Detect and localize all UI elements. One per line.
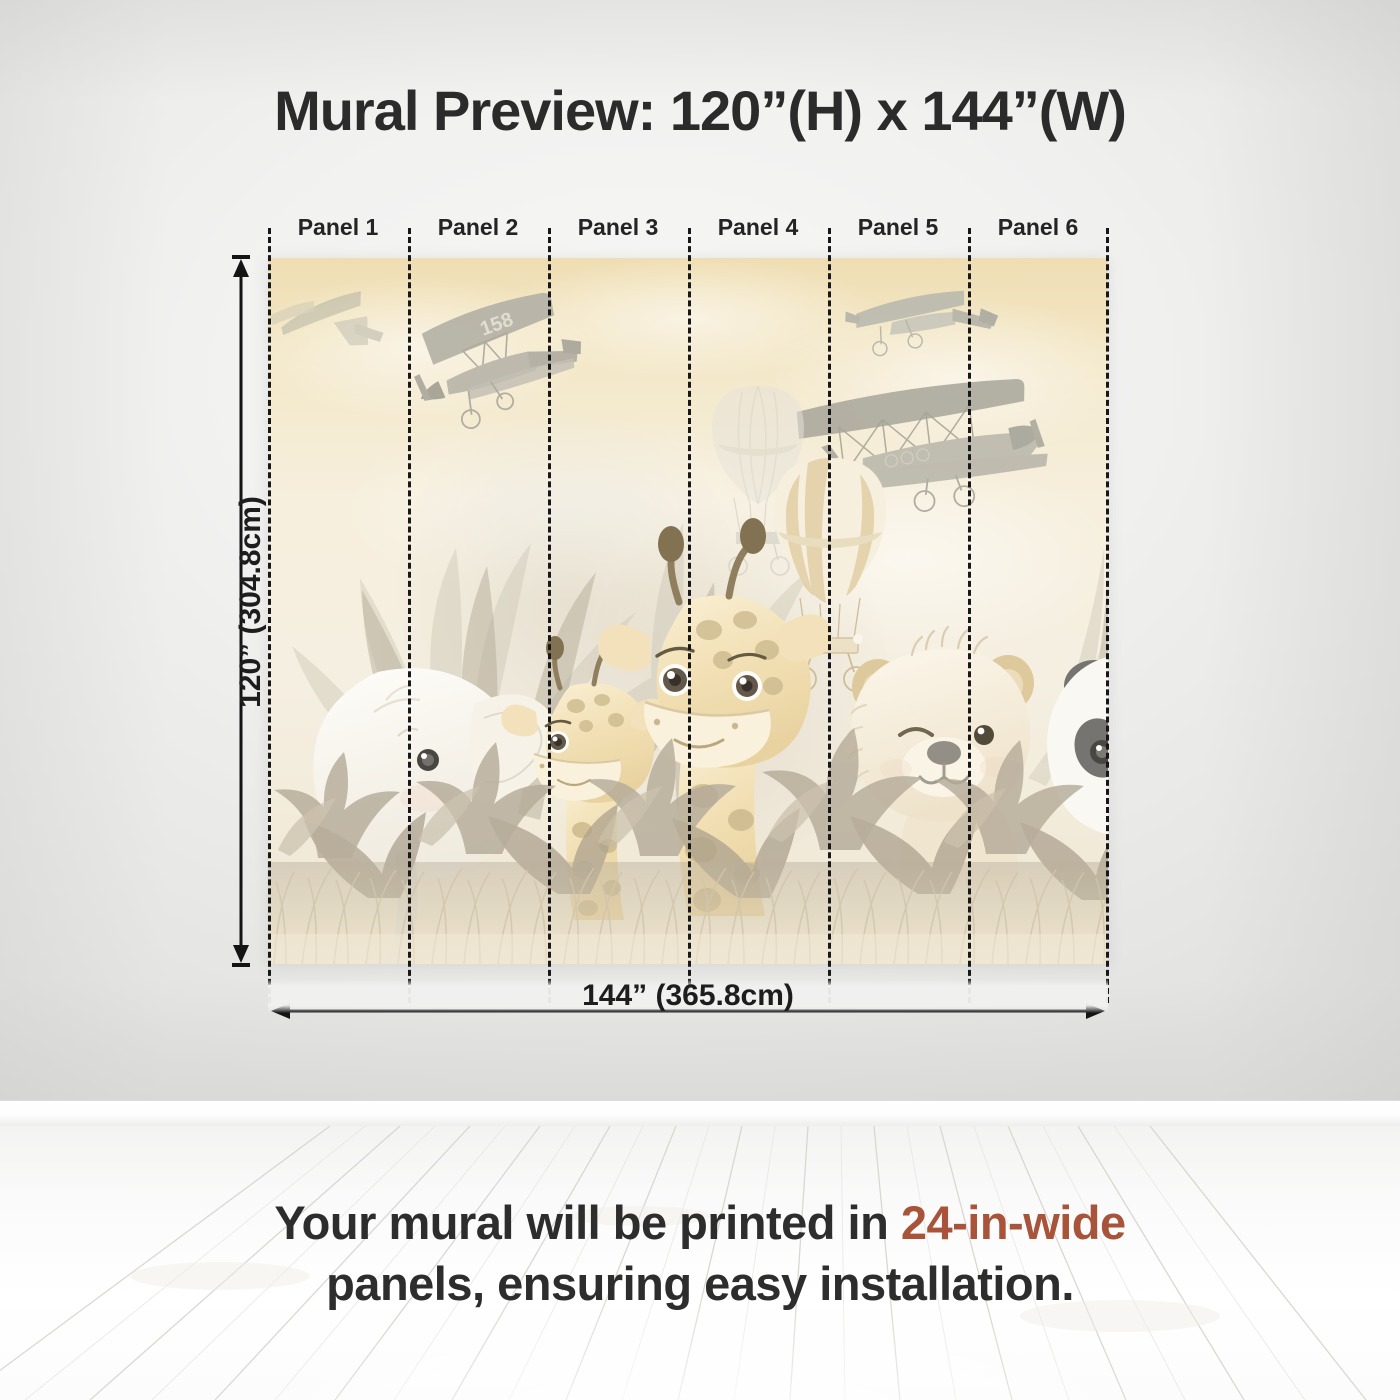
caption-line2: panels, ensuring easy installation. bbox=[326, 1257, 1074, 1310]
caption-highlight: 24-in-wide bbox=[901, 1196, 1126, 1249]
height-dimension-label: 120” (304.8cm) bbox=[234, 452, 268, 752]
mural-illustration: 158 bbox=[268, 258, 1108, 964]
panel-label-5: Panel 5 bbox=[828, 214, 968, 241]
mural-artwork: 158 bbox=[268, 258, 1108, 964]
panel-label-6: Panel 6 bbox=[968, 214, 1108, 241]
panel-label-3: Panel 3 bbox=[548, 214, 688, 241]
height-dimension: 120” (304.8cm) bbox=[228, 255, 252, 967]
mural-preview-screenshot: Mural Preview: 120”(H) x 144”(W) bbox=[0, 0, 1400, 1400]
panel-label-1: Panel 1 bbox=[268, 214, 408, 241]
panel-labels: Panel 1 Panel 2 Panel 3 Panel 4 Panel 5 … bbox=[268, 214, 1108, 248]
panel-label-4: Panel 4 bbox=[688, 214, 828, 241]
page-title: Mural Preview: 120”(H) x 144”(W) bbox=[0, 78, 1400, 143]
width-dimension: 144” (365.8cm) bbox=[268, 999, 1108, 1023]
mural-image: 158 bbox=[268, 258, 1108, 964]
width-dimension-label: 144” (365.8cm) bbox=[268, 979, 1108, 1013]
caption: Your mural will be printed in 24-in-wide… bbox=[0, 1192, 1400, 1314]
caption-line1-before: Your mural will be printed in bbox=[274, 1196, 901, 1249]
panel-label-2: Panel 2 bbox=[408, 214, 548, 241]
baseboard bbox=[0, 1100, 1400, 1127]
